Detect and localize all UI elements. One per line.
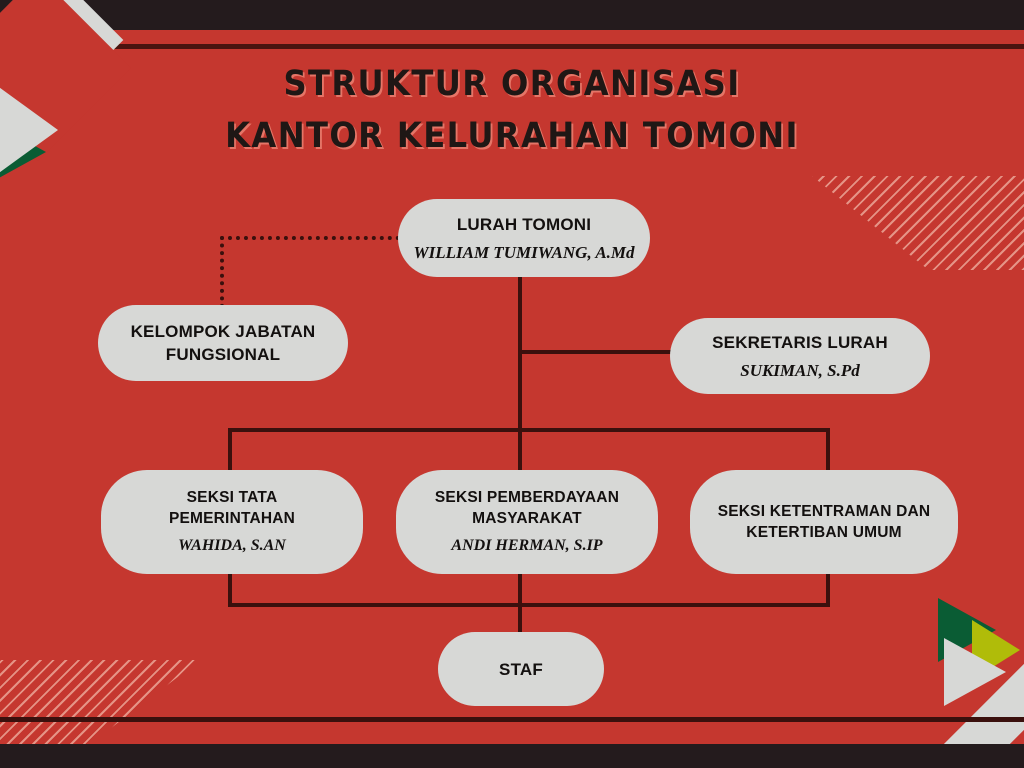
node-sekretaris-name: SUKIMAN, S.Pd: [740, 359, 860, 382]
bottom-right-band-notch: [979, 669, 1024, 768]
node-kelompok-line-2: FUNGSIONAL: [166, 343, 280, 366]
node-sekretaris-lurah[interactable]: SEKRETARIS LURAH SUKIMAN, S.Pd: [670, 318, 930, 394]
connector-seksi-bus: [228, 428, 830, 432]
node-seksi-ketentraman-ketertiban-umum[interactable]: SEKSI KETENTRAMAN DAN KETERTIBAN UMUM: [690, 470, 958, 574]
node-lurah-title: LURAH TOMONI: [457, 213, 591, 236]
node-sekretaris-title: SEKRETARIS LURAH: [712, 331, 888, 354]
node-lurah[interactable]: LURAH TOMONI WILLIAM TUMIWANG, A.Md: [398, 199, 650, 277]
node-seksi-pemberdayaan-masyarakat[interactable]: SEKSI PEMBERDAYAAN MASYARAKAT ANDI HERMA…: [396, 470, 658, 574]
node-seksi-tata-pemerintahan[interactable]: SEKSI TATA PEMERINTAHAN WAHIDA, S.AN: [101, 470, 363, 574]
bottom-left-hatch-pattern: [0, 660, 200, 744]
title-line-1: STRUKTUR ORGANISASI: [41, 58, 983, 110]
bottom-right-green-chevron: [938, 598, 996, 662]
top-left-dark-wedge: [0, 0, 49, 49]
connector-staf-bus: [228, 603, 830, 607]
node-ketentraman-line-2: KETERTIBAN UMUM: [746, 522, 901, 543]
node-staf[interactable]: STAF: [438, 632, 604, 706]
node-pemberdayaan-line-1: SEKSI PEMBERDAYAAN: [435, 487, 619, 508]
node-kelompok-line-1: KELOMPOK JABATAN: [131, 320, 316, 343]
node-pemberdayaan-name: ANDI HERMAN, S.IP: [451, 534, 602, 557]
top-accent-line: [0, 44, 1024, 49]
node-tata-name: WAHIDA, S.AN: [178, 534, 286, 557]
slide-title: STRUKTUR ORGANISASI KANTOR KELURAHAN TOM…: [0, 58, 1024, 162]
connector-lurah-kelompok-vertical: [220, 236, 224, 308]
bottom-right-gray-band: [921, 661, 1024, 768]
bottom-right-gray-chevron: [944, 638, 1006, 706]
connector-lurah-kelompok-horizontal: [220, 236, 416, 240]
node-staf-title: STAF: [499, 658, 543, 681]
bottom-dark-band: [0, 744, 1024, 768]
node-ketentraman-line-1: SEKSI KETENTRAMAN DAN: [718, 501, 931, 522]
node-lurah-name: WILLIAM TUMIWANG, A.Md: [413, 241, 634, 264]
node-pemberdayaan-line-2: MASYARAKAT: [472, 508, 582, 529]
bottom-right-olive-chevron: [972, 620, 1020, 680]
node-tata-line-2: PEMERINTAHAN: [169, 508, 295, 529]
title-line-2: KANTOR KELURAHAN TOMONI: [41, 110, 983, 162]
connector-lurah-sekretaris: [518, 350, 674, 354]
bottom-accent-line: [0, 717, 1024, 722]
top-right-hatch-pattern: [812, 176, 1024, 270]
organization-chart-slide: STRUKTUR ORGANISASI KANTOR KELURAHAN TOM…: [0, 0, 1024, 768]
connector-main-trunk: [518, 277, 522, 432]
node-tata-line-1: SEKSI TATA: [187, 487, 278, 508]
top-dark-band: [0, 0, 1024, 30]
node-kelompok-jabatan-fungsional[interactable]: KELOMPOK JABATAN FUNGSIONAL: [98, 305, 348, 381]
